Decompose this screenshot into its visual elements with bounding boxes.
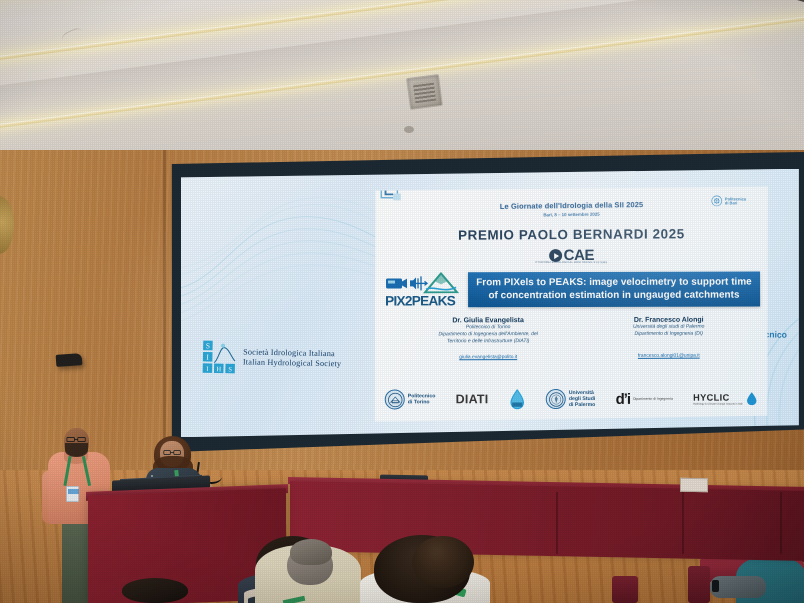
female-presenter-glasses-icon [162, 450, 183, 455]
society-name-en: Italian Hydrological Society [243, 357, 342, 369]
polito-seal-icon [385, 390, 405, 410]
pix2peaks-icon-group [385, 273, 463, 294]
sihs-mark-icon: S I I H S [202, 339, 237, 374]
author-2: Dr. Francesco Alongi Università degli st… [633, 317, 705, 363]
svg-text:H: H [217, 366, 222, 373]
wall-fixture [56, 353, 83, 367]
projection-screen: S I I H S Società Idrologica Italia [168, 152, 804, 452]
male-presenter-badge [66, 486, 79, 502]
audience-head-1 [122, 578, 188, 603]
hyclic-drop-icon [746, 392, 758, 406]
polito-label: Politecnico di Torino [408, 394, 436, 406]
author-2-email[interactable]: francesco.alongi01@unipa.it [638, 354, 700, 359]
logo-dij: d’i Dipartimento di Ingegneria [616, 391, 673, 408]
logo-water-drop [509, 389, 526, 411]
polito-line2: di Torino [408, 400, 436, 406]
title-row: PIX2PEAKS From PIXels to PEAKS: image ve… [385, 272, 760, 309]
hyclic-sublabel: Hydrology & Climate Change Impacts in It… [693, 403, 743, 406]
auditorium-seat-arm-1 [688, 566, 710, 603]
water-drop-icon [509, 389, 526, 411]
author-2-affiliation-3 [633, 338, 704, 344]
audience-head-2-hair-bun [290, 539, 332, 565]
award-title: PREMIO PAOLO BERNARDI 2025 [376, 226, 769, 243]
society-logo-text: Società Idrologica Italiana Italian Hydr… [243, 347, 342, 368]
logo-unipa: Università degli Studi di Palermo [546, 390, 596, 410]
lecture-hall-photo: S I I H S Società Idrologica Italia [0, 0, 804, 603]
authors-block: Dr. Giulia Evangelista Politecnico di To… [391, 317, 752, 364]
society-logo: S I I H S Società Idrologica Italia [202, 339, 342, 376]
logo-politecnico-torino: Politecnico di Torino [385, 390, 436, 410]
front-desk-barrier [290, 481, 804, 561]
svg-text:S: S [206, 341, 210, 350]
barrier-seam-3 [780, 492, 782, 554]
audience-head-3-curls [412, 536, 474, 588]
barrier-seam-1 [556, 492, 558, 554]
camera-mountain-icon [385, 273, 459, 294]
author-2-affiliation-2: Dipartimento di Ingegneria (DI) [633, 331, 704, 338]
air-vent-icon [406, 74, 443, 110]
pix2peaks-logo: PIX2PEAKS [385, 273, 463, 309]
barrier-seam-2 [682, 492, 684, 554]
wristwatch-icon [712, 580, 719, 592]
unipa-label: Università degli Studi di Palermo [569, 390, 596, 408]
author-1-email[interactable]: giulia.evangelista@polito.it [459, 356, 517, 361]
diati-wordmark: DIATI [456, 393, 489, 407]
pix2peaks-wordmark: PIX2PEAKS [385, 295, 463, 309]
presentation-title: From PIXels to PEAKS: image velocimetry … [468, 272, 760, 308]
male-presenter-glasses-icon [65, 437, 88, 442]
dij-sublabel: Dipartimento di Ingegneria [633, 397, 673, 401]
slide-content-panel: Politecnico di Bari Le Giornate dell'Idr… [375, 186, 768, 423]
ceiling [0, 0, 804, 175]
ceiling-sensor-icon [404, 126, 414, 133]
author-1: Dr. Giulia Evangelista Politecnico di To… [439, 317, 538, 364]
logo-diati: DIATI [456, 393, 489, 407]
desk-nameplate [680, 478, 708, 492]
partner-logo-strip: Politecnico di Torino DIATI [385, 388, 758, 411]
author-1-affiliation-3: Territorio e delle Infrastrutture (DIATI… [439, 339, 538, 346]
male-presenter-beard [65, 443, 88, 457]
unipa-line3: di Palermo [569, 403, 596, 409]
dij-wordmark: d’i [616, 391, 631, 408]
auditorium-seat-arm-2 [612, 576, 638, 603]
logo-hyclic: HYCLIC Hydrology & Climate Change Impact… [693, 392, 758, 406]
unipa-seal-icon [546, 390, 566, 410]
screen-surface: S I I H S Società Idrologica Italia [181, 169, 799, 438]
